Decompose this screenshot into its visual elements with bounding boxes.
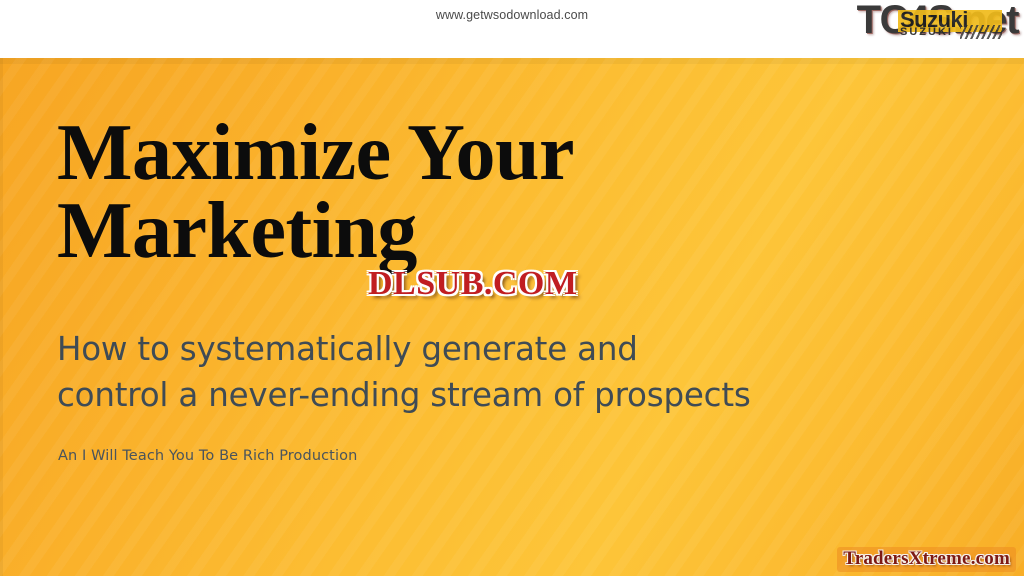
slide-subtitle-line-2: control a never-ending stream of prospec… xyxy=(57,372,897,418)
tc4s-overlay-hatch-pattern xyxy=(960,25,1002,39)
dlsub-watermark: DLSUB.COM xyxy=(368,265,577,303)
tc4s-logo: TC4S.net Suzuki SUZUKI xyxy=(810,0,1020,46)
slide-title-line-1: Maximize Your xyxy=(57,114,697,192)
slide-subtitle-line-1: How to systematically generate and xyxy=(57,326,897,372)
slide-title: Maximize Your Marketing xyxy=(57,114,697,271)
production-credit-text: An I Will Teach You To Be Rich Productio… xyxy=(58,448,357,464)
slide-subtitle: How to systematically generate and contr… xyxy=(57,326,897,418)
tc4s-overlay-word-small: SUZUKI xyxy=(900,26,953,38)
slide-title-line-2: Marketing xyxy=(57,192,697,270)
left-edge-shadow xyxy=(0,58,3,576)
slide-body: Maximize Your Marketing DLSUB.COM How to… xyxy=(0,58,1024,576)
tradersxtreme-watermark: TradersXtreme.com xyxy=(837,547,1016,572)
tc4s-overlay-watermark: Suzuki SUZUKI xyxy=(898,9,1002,39)
presentation-slide: www.getwsodownload.com TC4S.net Suzuki S… xyxy=(0,0,1024,576)
